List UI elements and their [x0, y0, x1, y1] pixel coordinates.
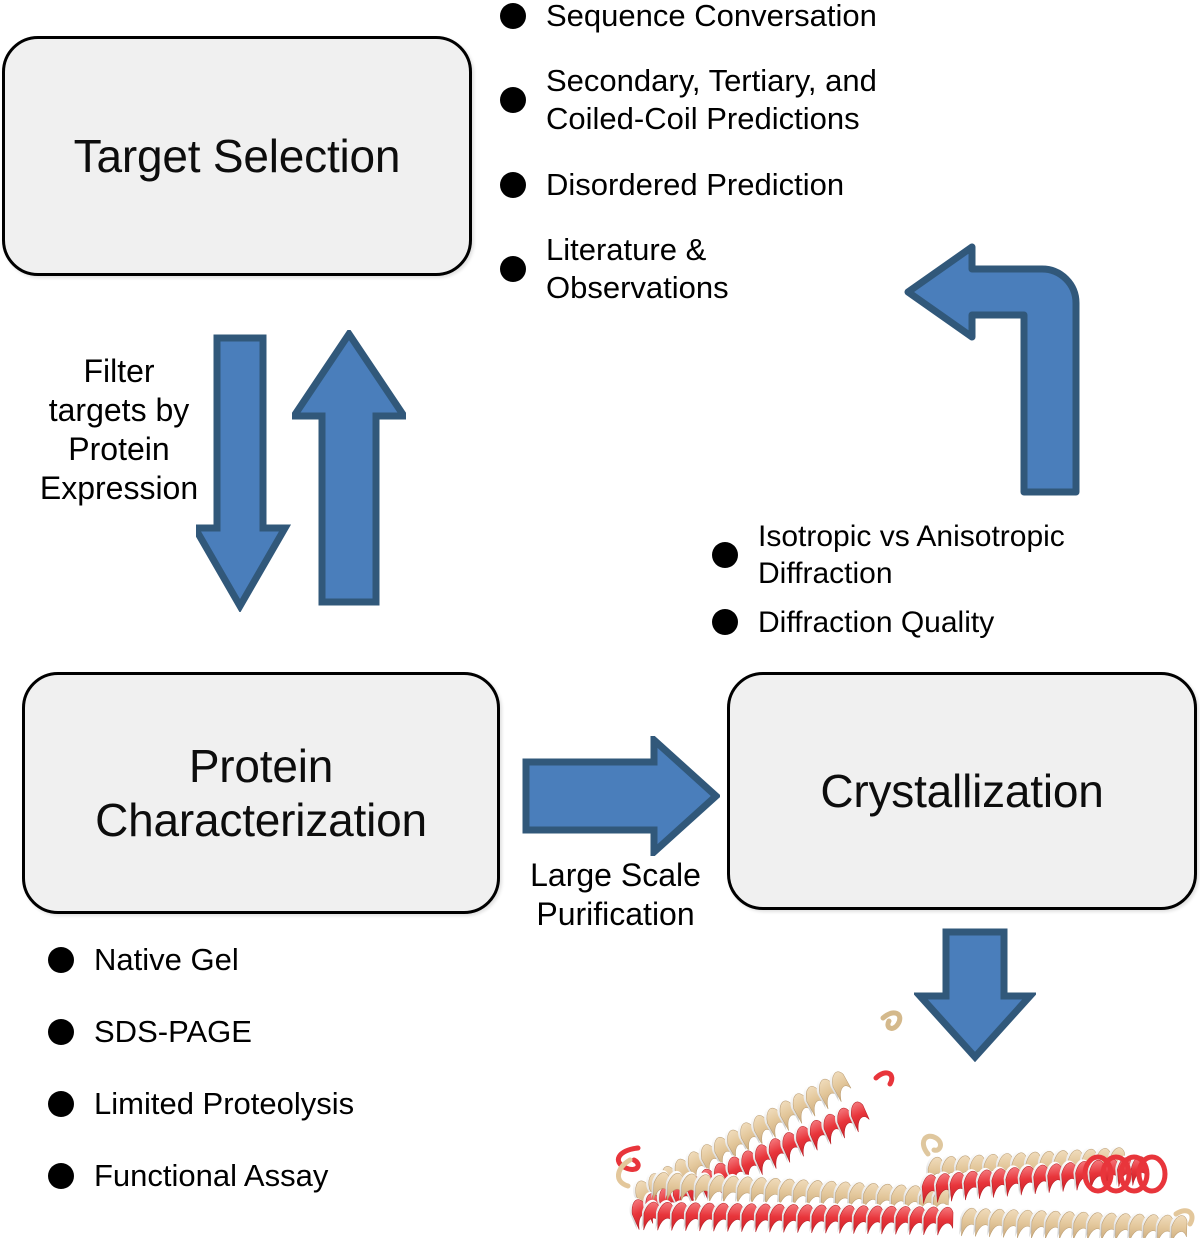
diagram-canvas: Target Selection Protein Characterizatio… [0, 0, 1200, 1238]
box-label-crystallization: Crystallization [806, 764, 1117, 818]
bullet-dot-icon [48, 1163, 74, 1189]
list-item: Disordered Prediction [500, 163, 970, 207]
bullet-dot-icon [48, 1019, 74, 1045]
list-item: SDS-PAGE [48, 1012, 468, 1052]
list-item-label: Literature & Observations [546, 231, 729, 308]
process-box-protein-characterization[interactable]: Protein Characterization [22, 672, 500, 914]
bullet-dot-icon [500, 256, 526, 282]
bullet-list-characterization-methods: Native Gel SDS-PAGE Limited Proteolysis … [48, 940, 468, 1228]
helix-red-lower [642, 1200, 953, 1236]
list-item-label: SDS-PAGE [94, 1013, 252, 1051]
bullet-dot-icon [48, 947, 74, 973]
bullet-dot-icon [500, 3, 526, 29]
edge-label-large-scale-purification: Large Scale Purification [508, 856, 723, 934]
list-item: Limited Proteolysis [48, 1084, 468, 1124]
bullet-dot-icon [500, 172, 526, 198]
list-item-label: Diffraction Quality [758, 604, 994, 641]
list-item-label: Sequence Conversation [546, 0, 877, 35]
list-item: Sequence Conversation [500, 0, 970, 38]
bullet-dot-icon [48, 1091, 74, 1117]
list-item-label: Native Gel [94, 941, 239, 979]
box-label-target-selection: Target Selection [60, 129, 415, 183]
edge-label-filter-targets: Filter targets by Protein Expression [34, 352, 204, 508]
elbow-arrow-icon [864, 242, 1100, 498]
list-item-label: Disordered Prediction [546, 166, 844, 204]
up-arrow-icon [292, 330, 406, 606]
helix-tan-right-lower [959, 1206, 1187, 1238]
list-item-label: Functional Assay [94, 1157, 328, 1195]
right-arrow-icon [520, 736, 720, 856]
bullet-dot-icon [712, 609, 738, 635]
coiled-coil-protein-ribbon-figure [608, 1000, 1200, 1238]
list-item: Diffraction Quality [712, 602, 1192, 642]
helix-tail-red [876, 1073, 892, 1084]
bullet-list-crystallization-criteria: Isotropic vs Anisotropic Diffraction Dif… [712, 518, 1192, 652]
bullet-dot-icon [712, 542, 738, 568]
process-box-crystallization[interactable]: Crystallization [727, 672, 1197, 910]
list-item-label: Limited Proteolysis [94, 1085, 354, 1123]
list-item: Isotropic vs Anisotropic Diffraction [712, 518, 1192, 592]
bullet-dot-icon [500, 87, 526, 113]
loop-right-tan [923, 1136, 940, 1154]
list-item-label: Secondary, Tertiary, and Coiled-Coil Pre… [546, 62, 877, 139]
list-item: Secondary, Tertiary, and Coiled-Coil Pre… [500, 62, 970, 139]
process-box-target-selection[interactable]: Target Selection [2, 36, 472, 276]
list-item-label: Isotropic vs Anisotropic Diffraction [758, 518, 1065, 592]
helix-tail-tan [883, 1013, 900, 1029]
list-item: Functional Assay [48, 1156, 468, 1196]
down-arrow-icon [196, 332, 292, 612]
box-label-protein-characterization: Protein Characterization [25, 739, 497, 848]
list-item: Native Gel [48, 940, 468, 980]
